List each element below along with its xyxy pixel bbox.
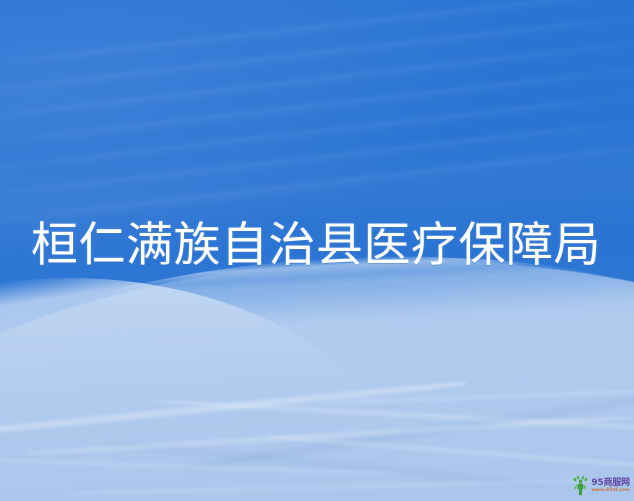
watermark: 95商服网 www.95sf.com (572, 476, 630, 496)
watermark-url: www.95sf.com (591, 489, 630, 494)
watermark-site-name: 95商服网 (591, 479, 630, 488)
page-title: 桓仁满族自治县医疗保障局 (0, 222, 601, 269)
watermark-logo-icon (572, 476, 589, 496)
banner-title-container: 桓仁满族自治县医疗保障局 (0, 0, 634, 501)
watermark-text-block: 95商服网 www.95sf.com (591, 479, 630, 494)
government-site-banner: 桓仁满族自治县医疗保障局 (0, 0, 634, 501)
